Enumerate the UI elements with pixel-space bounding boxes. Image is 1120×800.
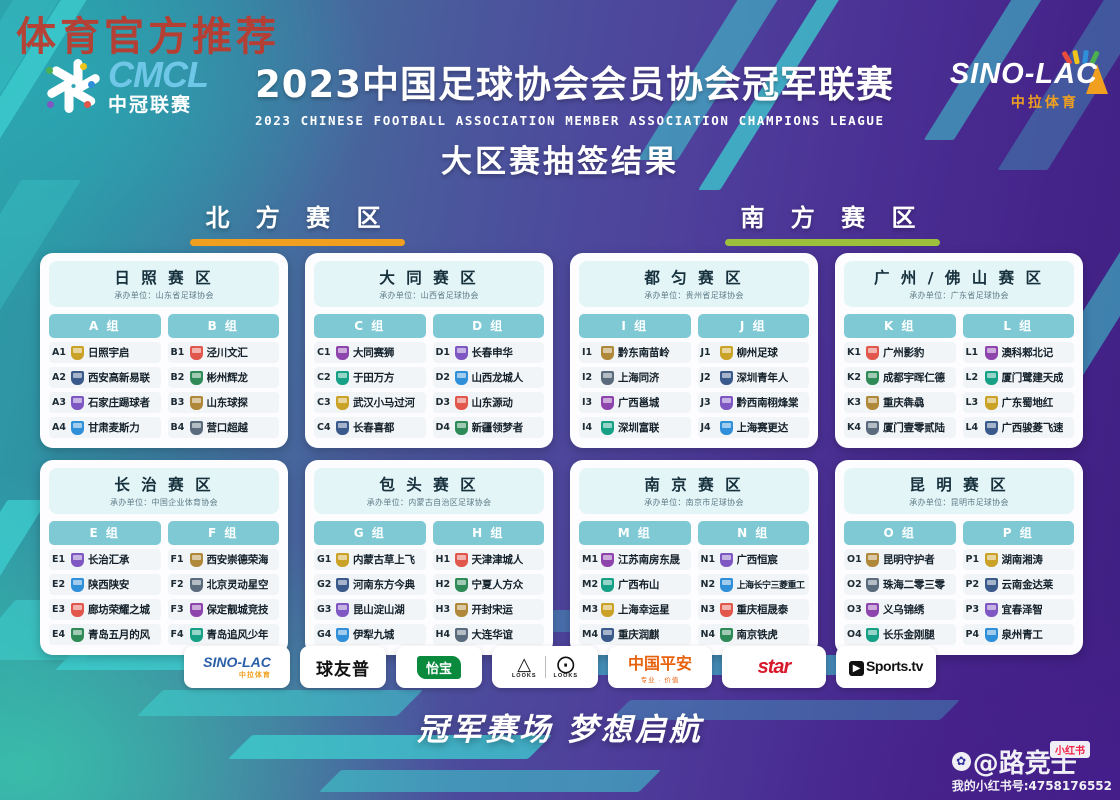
team-code: I3 bbox=[582, 397, 597, 408]
team-code: O2 bbox=[847, 579, 862, 590]
team-name: 广西骏菱飞速 bbox=[1002, 420, 1064, 435]
team-row[interactable]: E3廊坊荣耀之城 bbox=[49, 599, 161, 620]
group-header: I 组 bbox=[579, 314, 691, 338]
team-crest-icon bbox=[190, 578, 203, 592]
team-row[interactable]: M4重庆润麒 bbox=[579, 624, 691, 645]
team-name: 甘肃麦斯力 bbox=[88, 420, 140, 435]
sponsor-star[interactable]: star bbox=[722, 646, 826, 688]
team-code: P3 bbox=[966, 604, 981, 615]
team-name: 长春申华 bbox=[472, 345, 513, 360]
team-row[interactable]: B2彬州辉龙 bbox=[168, 367, 280, 388]
region-south-label: 南 方 赛 区 bbox=[725, 198, 940, 233]
cmcl-logo-subtext: 中冠联赛 bbox=[108, 96, 208, 115]
zone-card: 日 照 赛 区承办单位：山东省足球协会A 组A1日照宇启A2西安高新易联A3石家… bbox=[40, 253, 288, 448]
zone-card: 大 同 赛 区承办单位：山西省足球协会C 组C1大同赛狮C2于田万方C3武汉小马… bbox=[305, 253, 553, 448]
team-name: 成都宇晖仁德 bbox=[883, 370, 945, 385]
team-row[interactable]: D4新疆领梦者 bbox=[433, 417, 545, 438]
team-code: B4 bbox=[171, 422, 186, 433]
team-name: 于田万方 bbox=[353, 370, 394, 385]
team-code: N3 bbox=[701, 604, 716, 615]
team-crest-icon bbox=[336, 371, 349, 385]
sponsor-star-name: star bbox=[758, 656, 791, 679]
team-row[interactable]: J4上海赛更达 bbox=[698, 417, 810, 438]
team-code: N2 bbox=[701, 579, 716, 590]
team-row[interactable]: E1长治汇承 bbox=[49, 549, 161, 570]
group-header: P 组 bbox=[963, 521, 1075, 545]
team-code: K2 bbox=[847, 372, 862, 383]
team-row[interactable]: M2广西布山 bbox=[579, 574, 691, 595]
play-icon: ▶ bbox=[849, 661, 864, 676]
region-heading-south: 南 方 赛 区 bbox=[725, 198, 940, 246]
team-row[interactable]: I1黔东南苗岭 bbox=[579, 342, 691, 363]
team-code: C1 bbox=[317, 347, 332, 358]
team-code: D2 bbox=[436, 372, 451, 383]
group-column: C 组C1大同赛狮C2于田万方C3武汉小马过河C4长春喜都 bbox=[314, 314, 426, 438]
team-name: 大同赛狮 bbox=[353, 345, 394, 360]
team-crest-icon bbox=[866, 578, 879, 592]
team-code: I1 bbox=[582, 347, 597, 358]
team-code: K1 bbox=[847, 347, 862, 358]
team-code: F4 bbox=[171, 629, 186, 640]
zone-card-header: 南 京 赛 区承办单位：南京市足球协会 bbox=[579, 468, 809, 514]
poster-canvas: 体育官方推荐 CMCL 中冠联赛 2023中国足球协会会员协会冠军联 bbox=[0, 0, 1120, 800]
team-crest-icon bbox=[866, 421, 879, 435]
group-columns: G 组G1内蒙古草上飞G2河南东方今典G3昆山淀山湖G4伊犁九城H 组H1天津津… bbox=[314, 521, 544, 645]
team-row[interactable]: K3重庆犇骉 bbox=[844, 392, 956, 413]
team-name: 营口超越 bbox=[207, 420, 248, 435]
group-header: G 组 bbox=[314, 521, 426, 545]
team-row[interactable]: I2上海同济 bbox=[579, 367, 691, 388]
team-crest-icon bbox=[601, 578, 614, 592]
zone-card-header: 大 同 赛 区承办单位：山西省足球协会 bbox=[314, 261, 544, 307]
team-row[interactable]: O4长乐金刚腿 bbox=[844, 624, 956, 645]
team-row[interactable]: G1内蒙古草上飞 bbox=[314, 549, 426, 570]
team-row[interactable]: G3昆山淀山湖 bbox=[314, 599, 426, 620]
team-crest-icon bbox=[601, 553, 614, 567]
team-code: O1 bbox=[847, 554, 862, 565]
team-crest-icon bbox=[190, 421, 203, 435]
team-name: 珠海二零三零 bbox=[883, 577, 945, 592]
sponsor-sino-lac[interactable]: SINO-LAC 中拉体育 bbox=[184, 646, 290, 688]
zone-name: 大 同 赛 区 bbox=[314, 266, 544, 288]
team-crest-icon bbox=[985, 553, 998, 567]
team-name: 长春喜都 bbox=[353, 420, 394, 435]
paw-icon: ✿ bbox=[952, 752, 971, 771]
team-code: H2 bbox=[436, 579, 451, 590]
team-row[interactable]: G2河南东方今典 bbox=[314, 574, 426, 595]
team-name: 廊坊荣耀之城 bbox=[88, 602, 150, 617]
sponsor-sino-lac-name: SINO-LAC bbox=[203, 654, 271, 670]
team-crest-icon bbox=[866, 371, 879, 385]
team-code: J2 bbox=[701, 372, 716, 383]
team-row[interactable]: P4泉州青工 bbox=[963, 624, 1075, 645]
team-row[interactable]: D2山西龙城人 bbox=[433, 367, 545, 388]
team-name: 保定靓城竞技 bbox=[207, 602, 269, 617]
zone-card: 长 治 赛 区承办单位：中国企业体育协会E 组E1长治汇承E2陕西陕安E3廊坊荣… bbox=[40, 460, 288, 655]
zone-host: 承办单位：南京市足球协会 bbox=[579, 497, 809, 508]
zone-name: 昆 明 赛 区 bbox=[844, 473, 1074, 495]
team-row[interactable]: O3义乌锦绣 bbox=[844, 599, 956, 620]
team-name: 石家庄踢球者 bbox=[88, 395, 150, 410]
team-row[interactable]: D3山东源动 bbox=[433, 392, 545, 413]
group-header: A 组 bbox=[49, 314, 161, 338]
team-row[interactable]: C4长春喜都 bbox=[314, 417, 426, 438]
team-name: 山东球探 bbox=[207, 395, 248, 410]
group-header: N 组 bbox=[698, 521, 810, 545]
team-row[interactable]: I4深圳富联 bbox=[579, 417, 691, 438]
sponsor-divider bbox=[545, 656, 546, 678]
team-name: 长乐金刚腿 bbox=[883, 627, 935, 642]
group-column: B 组B1泾川文汇B2彬州辉龙B3山东球探B4营口超越 bbox=[168, 314, 280, 438]
team-code: P2 bbox=[966, 579, 981, 590]
team-row[interactable]: H4大连华谊 bbox=[433, 624, 545, 645]
team-name: 厦门鹭建天成 bbox=[1002, 370, 1064, 385]
team-row[interactable]: N2上海长宁三菱重工 bbox=[698, 574, 810, 595]
team-name: 西安崇德荣海 bbox=[207, 552, 269, 567]
team-crest-icon bbox=[71, 603, 84, 617]
team-crest-icon bbox=[720, 628, 733, 642]
watermark-note: 我的小红书号:4758176552 bbox=[952, 777, 1112, 794]
team-code: K3 bbox=[847, 397, 862, 408]
team-crest-icon bbox=[71, 553, 84, 567]
team-crest-icon bbox=[336, 421, 349, 435]
team-code: G3 bbox=[317, 604, 332, 615]
group-column: M 组M1江苏南房东晟M2广西布山M3上海幸运星M4重庆润麒 bbox=[579, 521, 691, 645]
region-north-underline bbox=[190, 239, 405, 246]
team-crest-icon bbox=[190, 396, 203, 410]
team-row[interactable]: L1澳科郲北记 bbox=[963, 342, 1075, 363]
group-header: B 组 bbox=[168, 314, 280, 338]
team-crest-icon bbox=[71, 371, 84, 385]
team-crest-icon bbox=[336, 553, 349, 567]
team-name: 山西龙城人 bbox=[472, 370, 524, 385]
team-row[interactable]: H2宁夏人方众 bbox=[433, 574, 545, 595]
team-name: 河南东方今典 bbox=[353, 577, 415, 592]
team-name: 北京灵动星空 bbox=[207, 577, 269, 592]
team-code: H4 bbox=[436, 629, 451, 640]
team-code: B3 bbox=[171, 397, 186, 408]
team-crest-icon bbox=[985, 628, 998, 642]
sponsor-yibao[interactable]: 怡宝 bbox=[396, 646, 482, 688]
team-row[interactable]: L2厦门鹭建天成 bbox=[963, 367, 1075, 388]
team-crest-icon bbox=[601, 603, 614, 617]
sino-lac-name-cn: 中拉体育 bbox=[992, 92, 1098, 112]
team-row[interactable]: F4青岛追风少年 bbox=[168, 624, 280, 645]
team-code: P4 bbox=[966, 629, 981, 640]
team-row[interactable]: N4南京铁虎 bbox=[698, 624, 810, 645]
team-row[interactable]: C1大同赛狮 bbox=[314, 342, 426, 363]
sponsor-insports[interactable]: ▶Sports.tv bbox=[836, 646, 936, 688]
team-row[interactable]: N3重庆桓晟泰 bbox=[698, 599, 810, 620]
team-code: E3 bbox=[52, 604, 67, 615]
team-row[interactable]: K2成都宇晖仁德 bbox=[844, 367, 956, 388]
team-row[interactable]: L3广东蜀地红 bbox=[963, 392, 1075, 413]
group-column: E 组E1长治汇承E2陕西陕安E3廊坊荣耀之城E4青岛五月的风 bbox=[49, 521, 161, 645]
team-code: H1 bbox=[436, 554, 451, 565]
group-columns: C 组C1大同赛狮C2于田万方C3武汉小马过河C4长春喜都D 组D1长春申华D2… bbox=[314, 314, 544, 438]
team-name: 彬州辉龙 bbox=[207, 370, 248, 385]
team-row[interactable]: A4甘肃麦斯力 bbox=[49, 417, 161, 438]
zone-name: 都 匀 赛 区 bbox=[579, 266, 809, 288]
team-name: 江苏南房东晟 bbox=[618, 552, 680, 567]
team-code: L4 bbox=[966, 422, 981, 433]
team-name: 上海长宁三菱重工 bbox=[737, 578, 805, 591]
group-columns: I 组I1黔东南苗岭I2上海同济I3广西邕城I4深圳富联J 组J1柳州足球J2深… bbox=[579, 314, 809, 438]
team-row[interactable]: O2珠海二零三零 bbox=[844, 574, 956, 595]
team-name: 重庆桓晟泰 bbox=[737, 602, 789, 617]
team-row[interactable]: N1广西恒宸 bbox=[698, 549, 810, 570]
team-crest-icon bbox=[720, 346, 733, 360]
zone-card: 包 头 赛 区承办单位：内蒙古自治区足球协会G 组G1内蒙古草上飞G2河南东方今… bbox=[305, 460, 553, 655]
group-column: H 组H1天津津城人H2宁夏人方众H3开封宋运H4大连华谊 bbox=[433, 521, 545, 645]
team-crest-icon bbox=[455, 346, 468, 360]
sino-lac-logo: SINO-LAC 中拉体育 bbox=[950, 58, 1098, 112]
team-row[interactable]: H3开封宋运 bbox=[433, 599, 545, 620]
sponsor-looks-name-2: LOOKS bbox=[554, 673, 579, 679]
group-columns: O 组O1昆明守护者O2珠海二零三零O3义乌锦绣O4长乐金刚腿P 组P1湖南湘涛… bbox=[844, 521, 1074, 645]
team-name: 重庆犇骉 bbox=[883, 395, 924, 410]
team-code: B1 bbox=[171, 347, 186, 358]
cmcl-logo: CMCL 中冠联赛 bbox=[38, 55, 208, 117]
team-crest-icon bbox=[71, 628, 84, 642]
team-name: 大连华谊 bbox=[472, 627, 513, 642]
xiaohongshu-badge: 小红书 bbox=[1050, 741, 1090, 758]
title-block: 2023中国足球协会会员协会冠军联赛 2023 CHINESE FOOTBALL… bbox=[255, 54, 865, 128]
team-code: G2 bbox=[317, 579, 332, 590]
team-crest-icon bbox=[190, 628, 203, 642]
team-row[interactable]: P1湖南湘涛 bbox=[963, 549, 1075, 570]
team-name: 天津津城人 bbox=[472, 552, 524, 567]
team-code: J1 bbox=[701, 347, 716, 358]
team-code: L1 bbox=[966, 347, 981, 358]
team-crest-icon bbox=[601, 396, 614, 410]
team-crest-icon bbox=[71, 396, 84, 410]
sponsor-looks[interactable]: △ LOOKS ⨀ LOOKS bbox=[492, 646, 598, 688]
team-code: F2 bbox=[171, 579, 186, 590]
team-code: C2 bbox=[317, 372, 332, 383]
sponsor-qiuyoupu-name: 球友普 bbox=[316, 655, 370, 680]
group-columns: M 组M1江苏南房东晟M2广西布山M3上海幸运星M4重庆润麒N 组N1广西恒宸N… bbox=[579, 521, 809, 645]
team-row[interactable]: G4伊犁九城 bbox=[314, 624, 426, 645]
sponsor-pingan-tagline: 专业 · 价值 bbox=[641, 674, 680, 684]
team-crest-icon bbox=[71, 421, 84, 435]
team-crest-icon bbox=[866, 396, 879, 410]
team-crest-icon bbox=[190, 553, 203, 567]
team-crest-icon bbox=[190, 603, 203, 617]
team-code: D1 bbox=[436, 347, 451, 358]
team-crest-icon bbox=[455, 421, 468, 435]
group-header: M 组 bbox=[579, 521, 691, 545]
team-code: N4 bbox=[701, 629, 716, 640]
team-row[interactable]: M1江苏南房东晟 bbox=[579, 549, 691, 570]
team-code: M2 bbox=[582, 579, 597, 590]
team-row[interactable]: A2西安高新易联 bbox=[49, 367, 161, 388]
sponsor-yibao-name: 怡宝 bbox=[417, 656, 461, 679]
team-name: 柳州足球 bbox=[737, 345, 778, 360]
zone-card-header: 日 照 赛 区承办单位：山东省足球协会 bbox=[49, 261, 279, 307]
group-column: G 组G1内蒙古草上飞G2河南东方今典G3昆山淀山湖G4伊犁九城 bbox=[314, 521, 426, 645]
team-row[interactable]: B4营口超越 bbox=[168, 417, 280, 438]
team-crest-icon bbox=[720, 603, 733, 617]
team-crest-icon bbox=[985, 578, 998, 592]
sponsor-pingan[interactable]: 中国平安 专业 · 价值 bbox=[608, 646, 712, 688]
team-crest-icon bbox=[866, 346, 879, 360]
zone-host: 承办单位：昆明市足球协会 bbox=[844, 497, 1074, 508]
sponsor-insports-name: ▶Sports.tv bbox=[849, 658, 923, 676]
team-row[interactable]: E4青岛五月的风 bbox=[49, 624, 161, 645]
team-crest-icon bbox=[455, 396, 468, 410]
team-row[interactable]: F2北京灵动星空 bbox=[168, 574, 280, 595]
team-crest-icon bbox=[455, 578, 468, 592]
team-code: J4 bbox=[701, 422, 716, 433]
team-name: 黔西南栩烽棠 bbox=[737, 395, 799, 410]
zone-card: 广 州 / 佛 山 赛 区承办单位：广东省足球协会K 组K1广州影豹K2成都宇晖… bbox=[835, 253, 1083, 448]
team-code: I4 bbox=[582, 422, 597, 433]
team-name: 昆山淀山湖 bbox=[353, 602, 405, 617]
sponsor-pingan-name: 中国平安 bbox=[628, 650, 692, 674]
team-name: 开封宋运 bbox=[472, 602, 513, 617]
team-crest-icon bbox=[601, 346, 614, 360]
team-crest-icon bbox=[601, 371, 614, 385]
sino-lac-name: SINO-LAC bbox=[950, 58, 1098, 91]
group-column: P 组P1湖南湘涛P2云南金达莱P3宜春泽智P4泉州青工 bbox=[963, 521, 1075, 645]
team-crest-icon bbox=[985, 603, 998, 617]
group-columns: A 组A1日照宇启A2西安高新易联A3石家庄踢球者A4甘肃麦斯力B 组B1泾川文… bbox=[49, 314, 279, 438]
team-name: 日照宇启 bbox=[88, 345, 129, 360]
zone-name: 日 照 赛 区 bbox=[49, 266, 279, 288]
team-row[interactable]: F1西安崇德荣海 bbox=[168, 549, 280, 570]
zone-card-header: 包 头 赛 区承办单位：内蒙古自治区足球协会 bbox=[314, 468, 544, 514]
team-row[interactable]: C3武汉小马过河 bbox=[314, 392, 426, 413]
team-code: E1 bbox=[52, 554, 67, 565]
team-crest-icon bbox=[190, 371, 203, 385]
team-row[interactable]: F3保定靓城竞技 bbox=[168, 599, 280, 620]
sponsor-looks-name: LOOKS bbox=[512, 673, 537, 679]
team-crest-icon bbox=[985, 371, 998, 385]
team-crest-icon bbox=[71, 346, 84, 360]
team-row[interactable]: J2深圳青年人 bbox=[698, 367, 810, 388]
team-name: 广西邕城 bbox=[618, 395, 659, 410]
team-code: A3 bbox=[52, 397, 67, 408]
sponsor-row: SINO-LAC 中拉体育 球友普 怡宝 △ LOOKS ⨀ LOOKS 中国平… bbox=[0, 646, 1120, 688]
team-code: E4 bbox=[52, 629, 67, 640]
team-crest-icon bbox=[336, 346, 349, 360]
group-column: I 组I1黔东南苗岭I2上海同济I3广西邕城I4深圳富联 bbox=[579, 314, 691, 438]
page-subtitle: 大区赛抽签结果 bbox=[0, 136, 1120, 181]
team-name: 广西恒宸 bbox=[737, 552, 778, 567]
team-name: 武汉小马过河 bbox=[353, 395, 415, 410]
team-crest-icon bbox=[985, 346, 998, 360]
team-code: O3 bbox=[847, 604, 862, 615]
team-crest-icon bbox=[336, 578, 349, 592]
team-row[interactable]: A3石家庄踢球者 bbox=[49, 392, 161, 413]
team-name: 泾川文汇 bbox=[207, 345, 248, 360]
team-row[interactable]: I3广西邕城 bbox=[579, 392, 691, 413]
team-code: J3 bbox=[701, 397, 716, 408]
group-header: H 组 bbox=[433, 521, 545, 545]
group-column: D 组D1长春申华D2山西龙城人D3山东源动D4新疆领梦者 bbox=[433, 314, 545, 438]
team-name: 上海幸运星 bbox=[618, 602, 670, 617]
team-crest-icon bbox=[455, 628, 468, 642]
team-name: 南京铁虎 bbox=[737, 627, 778, 642]
team-crest-icon bbox=[455, 553, 468, 567]
group-columns: K 组K1广州影豹K2成都宇晖仁德K3重庆犇骉K4厦门壹零贰陆L 组L1澳科郲北… bbox=[844, 314, 1074, 438]
zone-card: 南 京 赛 区承办单位：南京市足球协会M 组M1江苏南房东晟M2广西布山M3上海… bbox=[570, 460, 818, 655]
team-code: L2 bbox=[966, 372, 981, 383]
team-crest-icon bbox=[720, 421, 733, 435]
team-crest-icon bbox=[455, 603, 468, 617]
team-name: 内蒙古草上飞 bbox=[353, 552, 415, 567]
team-row[interactable]: E2陕西陕安 bbox=[49, 574, 161, 595]
team-code: H3 bbox=[436, 604, 451, 615]
team-code: D4 bbox=[436, 422, 451, 433]
zone-grid: 日 照 赛 区承办单位：山东省足球协会A 组A1日照宇启A2西安高新易联A3石家… bbox=[40, 253, 1085, 655]
team-row[interactable]: B1泾川文汇 bbox=[168, 342, 280, 363]
team-row[interactable]: O1昆明守护者 bbox=[844, 549, 956, 570]
team-row[interactable]: D1长春申华 bbox=[433, 342, 545, 363]
title-english: 2023 CHINESE FOOTBALL ASSOCIATION MEMBER… bbox=[255, 113, 865, 128]
sponsor-qiuyoupu[interactable]: 球友普 bbox=[300, 646, 386, 688]
team-name: 广西布山 bbox=[618, 577, 659, 592]
team-crest-icon bbox=[985, 396, 998, 410]
team-row[interactable]: B3山东球探 bbox=[168, 392, 280, 413]
team-row[interactable]: J3黔西南栩烽棠 bbox=[698, 392, 810, 413]
team-row[interactable]: K1广州影豹 bbox=[844, 342, 956, 363]
team-row[interactable]: M3上海幸运星 bbox=[579, 599, 691, 620]
team-row[interactable]: H1天津津城人 bbox=[433, 549, 545, 570]
zone-name: 包 头 赛 区 bbox=[314, 473, 544, 495]
team-code: F3 bbox=[171, 604, 186, 615]
team-code: A2 bbox=[52, 372, 67, 383]
team-row[interactable]: L4广西骏菱飞速 bbox=[963, 417, 1075, 438]
team-row[interactable]: K4厦门壹零贰陆 bbox=[844, 417, 956, 438]
team-code: C4 bbox=[317, 422, 332, 433]
team-row[interactable]: A1日照宇启 bbox=[49, 342, 161, 363]
zone-host: 承办单位：内蒙古自治区足球协会 bbox=[314, 497, 544, 508]
team-code: D3 bbox=[436, 397, 451, 408]
zone-card-header: 都 匀 赛 区承办单位：贵州省足球协会 bbox=[579, 261, 809, 307]
team-code: G1 bbox=[317, 554, 332, 565]
team-row[interactable]: P3宜春泽智 bbox=[963, 599, 1075, 620]
group-header: D 组 bbox=[433, 314, 545, 338]
team-name: 义乌锦绣 bbox=[883, 602, 924, 617]
group-column: A 组A1日照宇启A2西安高新易联A3石家庄踢球者A4甘肃麦斯力 bbox=[49, 314, 161, 438]
group-header: K 组 bbox=[844, 314, 956, 338]
team-name: 上海同济 bbox=[618, 370, 659, 385]
team-name: 宁夏人方众 bbox=[472, 577, 524, 592]
team-name: 上海赛更达 bbox=[737, 420, 789, 435]
team-crest-icon bbox=[720, 553, 733, 567]
zone-card: 昆 明 赛 区承办单位：昆明市足球协会O 组O1昆明守护者O2珠海二零三零O3义… bbox=[835, 460, 1083, 655]
team-crest-icon bbox=[71, 578, 84, 592]
team-crest-icon bbox=[866, 553, 879, 567]
zone-host: 承办单位：山东省足球协会 bbox=[49, 290, 279, 301]
team-row[interactable]: P2云南金达莱 bbox=[963, 574, 1075, 595]
group-header: F 组 bbox=[168, 521, 280, 545]
group-column: N 组N1广西恒宸N2上海长宁三菱重工N3重庆桓晟泰N4南京铁虎 bbox=[698, 521, 810, 645]
team-code: L3 bbox=[966, 397, 981, 408]
team-crest-icon bbox=[985, 421, 998, 435]
group-header: J 组 bbox=[698, 314, 810, 338]
zone-name: 长 治 赛 区 bbox=[49, 473, 279, 495]
team-crest-icon bbox=[336, 396, 349, 410]
team-row[interactable]: J1柳州足球 bbox=[698, 342, 810, 363]
zone-name: 南 京 赛 区 bbox=[579, 473, 809, 495]
team-name: 重庆润麒 bbox=[618, 627, 659, 642]
team-row[interactable]: C2于田万方 bbox=[314, 367, 426, 388]
group-header: O 组 bbox=[844, 521, 956, 545]
team-crest-icon bbox=[601, 628, 614, 642]
